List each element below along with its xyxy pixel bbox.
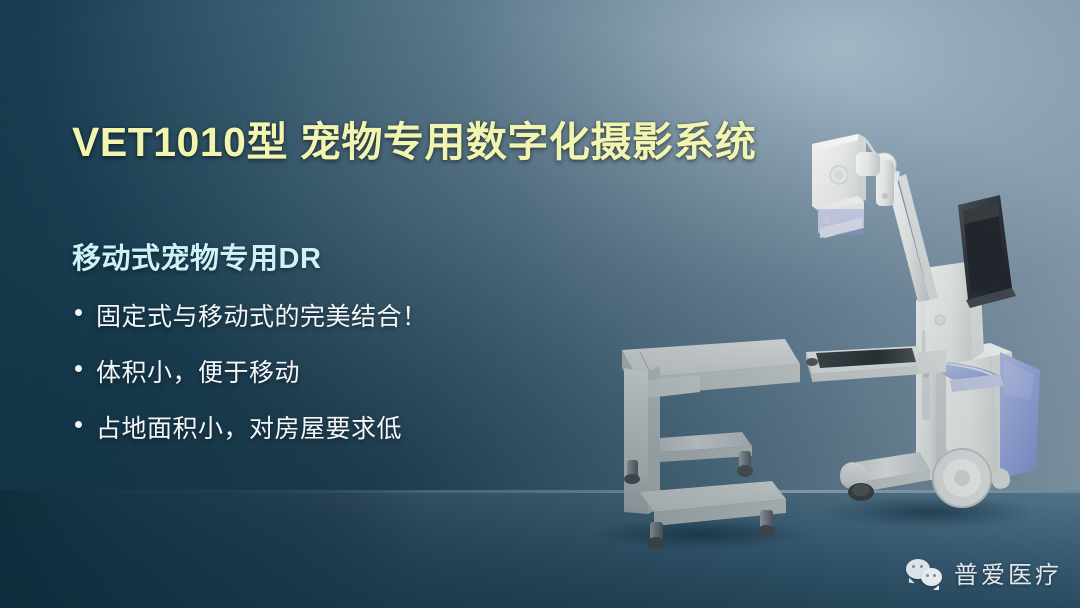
list-item: 占地面积小，对房屋要求低 bbox=[70, 409, 428, 445]
bullet-dot-icon bbox=[75, 365, 82, 372]
lift-column bbox=[916, 300, 944, 480]
list-item: 固定式与移动式的完美结合！ bbox=[70, 297, 428, 333]
list-item-label: 体积小，便于移动 bbox=[96, 359, 300, 387]
floor-shadow-left bbox=[0, 490, 420, 608]
tube-knob bbox=[830, 166, 848, 184]
page-subtitle: 移动式宠物专用DR bbox=[72, 235, 321, 277]
wechat-icon bbox=[906, 558, 944, 588]
side-panel-accent bbox=[1000, 352, 1040, 478]
page-title: VET1010型 宠物专用数字化摄影系统 bbox=[72, 108, 756, 168]
control-tray bbox=[806, 346, 924, 382]
watermark-label: 普爱医疗 bbox=[954, 555, 1062, 590]
x-ray-tube-head bbox=[812, 134, 880, 238]
bullet-dot-icon bbox=[75, 309, 82, 316]
list-item-label: 占地面积小，对房屋要求低 bbox=[96, 415, 402, 443]
dr-machine bbox=[806, 134, 1040, 507]
collimator bbox=[818, 196, 864, 238]
presentation-slide: VET1010型 宠物专用数字化摄影系统 移动式宠物专用DR 固定式与移动式的完… bbox=[0, 0, 1080, 608]
handle bbox=[942, 362, 1000, 385]
articulated-arm bbox=[866, 140, 938, 302]
main-body bbox=[942, 343, 998, 492]
list-item-label: 固定式与移动式的完美结合！ bbox=[96, 303, 428, 331]
arm-pivot bbox=[872, 153, 896, 177]
feature-list: 固定式与移动式的完美结合！ 体积小，便于移动 占地面积小，对房屋要求低 bbox=[70, 297, 428, 465]
bullet-dot-icon bbox=[75, 421, 82, 428]
watermark: 普爱医疗 bbox=[906, 555, 1062, 590]
monitor bbox=[958, 195, 1016, 308]
list-item: 体积小，便于移动 bbox=[70, 353, 428, 389]
